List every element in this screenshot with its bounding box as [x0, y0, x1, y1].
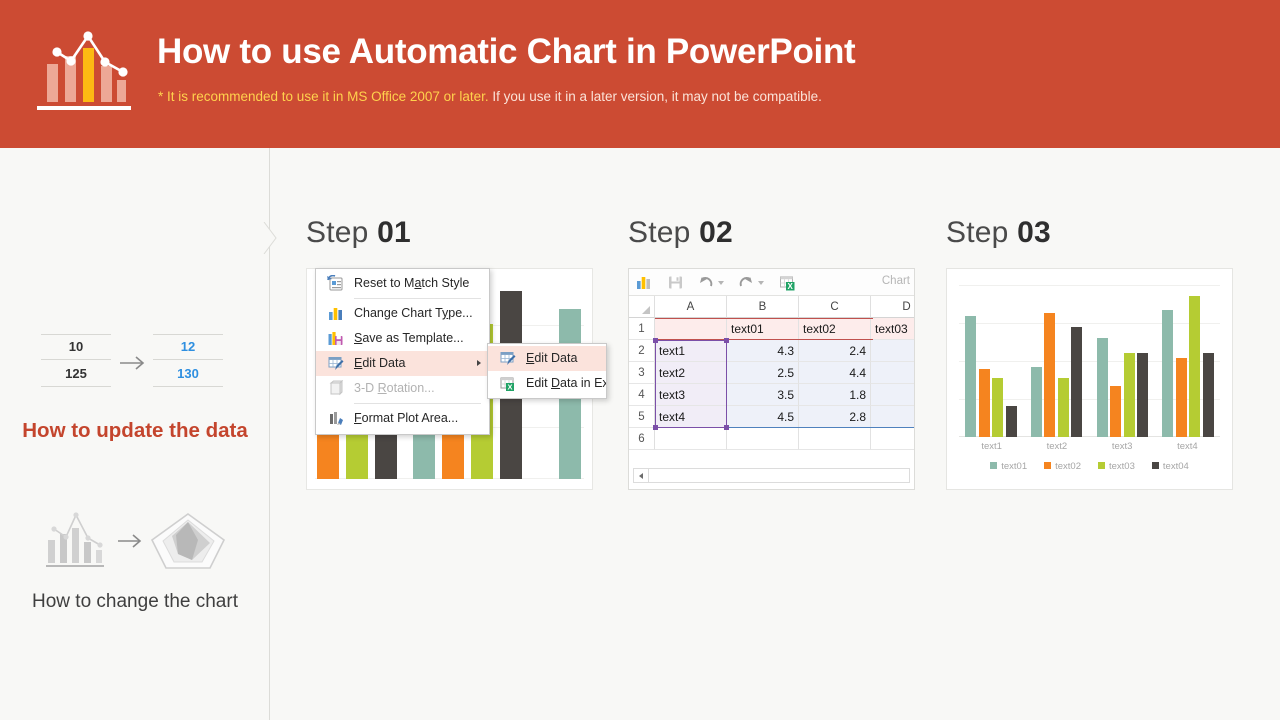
row-header[interactable]: 5	[629, 406, 655, 428]
save-icon[interactable]	[667, 274, 684, 291]
step-heading-1: Step 01	[306, 216, 606, 268]
chart-legend: text01text02text03text04	[947, 461, 1232, 472]
updated-chart[interactable]: text1text2text3text4 text01text02text03t…	[946, 268, 1233, 490]
radar-chart-icon	[152, 514, 224, 568]
menu-label: Edit Data	[354, 356, 405, 370]
menu-item-change-chart-type[interactable]: Change Chart Type...	[316, 301, 489, 326]
column-header-d[interactable]: D	[871, 296, 915, 318]
row-header[interactable]: 3	[629, 362, 655, 384]
save-template-icon	[327, 330, 344, 347]
menu-label: 3-D Rotation...	[354, 381, 435, 395]
cell-b6[interactable]	[727, 428, 799, 450]
chart-bar	[992, 378, 1003, 437]
chart-bar	[1162, 310, 1173, 437]
chart-bar	[1097, 338, 1108, 437]
legend-swatch	[1098, 462, 1105, 469]
cell-d3[interactable]	[871, 362, 915, 384]
legend-item: text02	[1044, 461, 1081, 472]
result-plot-area	[959, 285, 1220, 437]
step-column-3: Step 03 text1text2text3text4 text01text0…	[946, 216, 1246, 490]
cell-d1[interactable]: text03	[871, 318, 915, 340]
cell-b5[interactable]: 4.5	[727, 406, 799, 428]
chart-bar	[1176, 358, 1187, 437]
sidebar-subtitle: How to change the chart	[20, 588, 250, 616]
old-value-top: 10	[41, 334, 111, 360]
cell-a6[interactable]	[655, 428, 727, 450]
legend-swatch	[990, 462, 997, 469]
chevron-right-icon	[477, 360, 481, 366]
x-axis-label: text2	[1024, 441, 1089, 455]
change-chart-type-icon	[327, 305, 344, 322]
step-label-3: Step	[946, 216, 1017, 249]
legend-label: text04	[1163, 461, 1189, 472]
step-label-2: Step	[628, 216, 699, 249]
cell-c4[interactable]: 1.8	[799, 384, 871, 406]
step-heading-3: Step 03	[946, 216, 1246, 268]
menu-item-reset-to-match-style[interactable]: Reset to Match Style	[316, 271, 489, 296]
column-header-b[interactable]: B	[727, 296, 799, 318]
x-axis-label: text3	[1090, 441, 1155, 455]
menu-label: Format Plot Area...	[354, 411, 458, 425]
menu-item-3d-rotation: 3-D Rotation...	[316, 376, 489, 401]
row-header[interactable]: 6	[629, 428, 655, 450]
select-all-corner[interactable]	[629, 296, 655, 318]
cell-c1[interactable]: text02	[799, 318, 871, 340]
chart-bar	[1189, 296, 1200, 437]
step2-figure: X Chart A B C D 1 text01	[628, 268, 915, 490]
table-row: 6	[629, 428, 914, 450]
chart-bar	[1031, 367, 1042, 437]
submenu-item-edit-data-in-excel[interactable]: X Edit Data in Excel...	[488, 371, 606, 396]
chart-bar	[1124, 353, 1135, 437]
step-label-1: Step	[306, 216, 377, 249]
table-row: 3 text2 2.5 4.4	[629, 362, 914, 384]
step-heading-2: Step 02	[628, 216, 928, 268]
step-number-2: 02	[699, 216, 733, 249]
edit-data-icon	[327, 355, 344, 372]
cell-d2[interactable]	[871, 340, 915, 362]
spreadsheet-window-title: Chart	[882, 275, 910, 287]
cell-a2[interactable]: text1	[655, 340, 727, 362]
header-subtitle-rest: If you use it in a later version, it may…	[489, 89, 822, 104]
table-row: 2 text1 4.3 2.4	[629, 340, 914, 362]
legend-label: text01	[1001, 461, 1027, 472]
cell-a3[interactable]: text2	[655, 362, 727, 384]
submenu-item-edit-data[interactable]: Edit Data	[488, 346, 606, 371]
svg-text:X: X	[507, 383, 512, 392]
new-value-bottom: 130	[153, 362, 223, 387]
cell-c5[interactable]: 2.8	[799, 406, 871, 428]
x-axis-tick-labels: text1text2text3text4	[959, 441, 1220, 455]
scroll-left-icon[interactable]	[634, 469, 649, 482]
edit-data-submenu[interactable]: Edit Data X Edit Data in Excel...	[487, 343, 607, 399]
chart-bar	[1137, 353, 1148, 437]
menu-label: Save as Template...	[354, 331, 464, 345]
table-row: 5 text4 4.5 2.8	[629, 406, 914, 428]
horizontal-scrollbar[interactable]	[633, 468, 910, 483]
undo-icon[interactable]	[699, 274, 725, 291]
old-value-bottom: 125	[41, 362, 111, 387]
step-number-3: 03	[1017, 216, 1051, 249]
logo	[37, 28, 131, 110]
chart-bar	[1203, 353, 1214, 437]
new-value-top: 12	[153, 334, 223, 360]
spreadsheet-grid[interactable]: A B C D 1 text01 text02 text03 2 t	[629, 296, 914, 450]
legend-swatch	[1044, 462, 1051, 469]
redo-icon[interactable]	[739, 274, 765, 291]
chart-bar	[979, 369, 990, 437]
menu-label: Reset to Match Style	[354, 276, 469, 290]
legend-label: text02	[1055, 461, 1081, 472]
cell-b2[interactable]: 4.3	[727, 340, 799, 362]
excel-icon: X	[499, 375, 516, 392]
legend-item: text01	[990, 461, 1027, 472]
cell-b4[interactable]: 3.5	[727, 384, 799, 406]
table-row: 1 text01 text02 text03	[629, 318, 914, 340]
chart-bar	[965, 316, 976, 437]
legend-label: text03	[1109, 461, 1135, 472]
table-row: 4 text3 3.5 1.8	[629, 384, 914, 406]
step3-figure: text1text2text3text4 text01text02text03t…	[946, 268, 1233, 490]
sidebar-title: How to update the data	[20, 416, 250, 446]
header-subtitle: * It is recommended to use it in MS Offi…	[158, 89, 822, 104]
menu-item-save-as-template[interactable]: Save as Template...	[316, 326, 489, 351]
column-header-a[interactable]: A	[655, 296, 727, 318]
step-column-1: Step 01	[306, 216, 606, 490]
cell-b3[interactable]: 2.5	[727, 362, 799, 384]
menu-label: Change Chart Type...	[354, 306, 473, 320]
spreadsheet-toolbar: X Chart	[629, 269, 914, 296]
column-header-c[interactable]: C	[799, 296, 871, 318]
cell-c2[interactable]: 2.4	[799, 340, 871, 362]
menu-separator	[354, 298, 481, 299]
row-header[interactable]: 4	[629, 384, 655, 406]
column-header-row: A B C D	[629, 296, 914, 318]
cell-d4[interactable]	[871, 384, 915, 406]
step-number-1: 01	[377, 216, 411, 249]
cell-a5[interactable]: text4	[655, 406, 727, 428]
legend-swatch	[1152, 462, 1159, 469]
menu-item-format-plot-area[interactable]: Format Plot Area...	[316, 406, 489, 431]
chart-bar	[1110, 386, 1121, 437]
chart-context-menu[interactable]: Reset to Match Style Change Chart Type..…	[315, 268, 490, 435]
format-plot-area-icon	[327, 410, 344, 427]
submenu-label: Edit Data in Excel...	[526, 376, 607, 390]
row-header[interactable]: 1	[629, 318, 655, 340]
chart-transform-icons	[42, 510, 228, 572]
header-banner: How to use Automatic Chart in PowerPoint…	[0, 0, 1280, 148]
cell-a4[interactable]: text3	[655, 384, 727, 406]
sidebar: 10 125 12 130 How to update the data	[0, 148, 270, 720]
x-axis-label: text1	[959, 441, 1024, 455]
cell-c6[interactable]	[799, 428, 871, 450]
legend-item: text03	[1098, 461, 1135, 472]
bar-line-chart-icon	[37, 28, 131, 104]
data-change-table: 10 125 12 130	[41, 334, 231, 392]
chart-data-spreadsheet[interactable]: X Chart A B C D 1 text01	[628, 268, 915, 490]
x-axis-label: text4	[1155, 441, 1220, 455]
step-column-2: Step 02	[628, 216, 928, 490]
chart-bar	[1044, 313, 1055, 437]
chart-bar	[1006, 406, 1017, 437]
cell-b1[interactable]: text01	[727, 318, 799, 340]
submenu-label: Edit Data	[526, 351, 577, 365]
cell-c3[interactable]: 4.4	[799, 362, 871, 384]
cell-d5[interactable]	[871, 406, 915, 428]
chart-bar	[1058, 378, 1069, 437]
header-subtitle-warning: * It is recommended to use it in MS Offi…	[158, 89, 489, 104]
bar-chart-icon	[46, 512, 104, 567]
step1-figure: Reset to Match Style Change Chart Type..…	[306, 268, 593, 490]
legend-item: text04	[1152, 461, 1189, 472]
cell-d6[interactable]	[871, 428, 915, 450]
cell-a1[interactable]	[655, 318, 727, 340]
row-header[interactable]: 2	[629, 340, 655, 362]
page-title: How to use Automatic Chart in PowerPoint	[157, 32, 855, 72]
right-arrow-icon	[119, 354, 147, 372]
menu-separator	[354, 403, 481, 404]
rotation-icon	[327, 380, 344, 397]
menu-item-edit-data[interactable]: Edit Data	[316, 351, 489, 376]
edit-data-icon	[499, 350, 516, 367]
open-in-excel-icon[interactable]: X	[779, 274, 796, 291]
chart-icon[interactable]	[635, 274, 652, 291]
right-arrow-icon	[118, 535, 140, 547]
logo-underline	[37, 106, 131, 110]
slide: How to use Automatic Chart in PowerPoint…	[0, 0, 1280, 720]
svg-text:X: X	[788, 282, 794, 291]
reset-style-icon	[327, 275, 344, 292]
chart-bar	[1071, 327, 1082, 437]
